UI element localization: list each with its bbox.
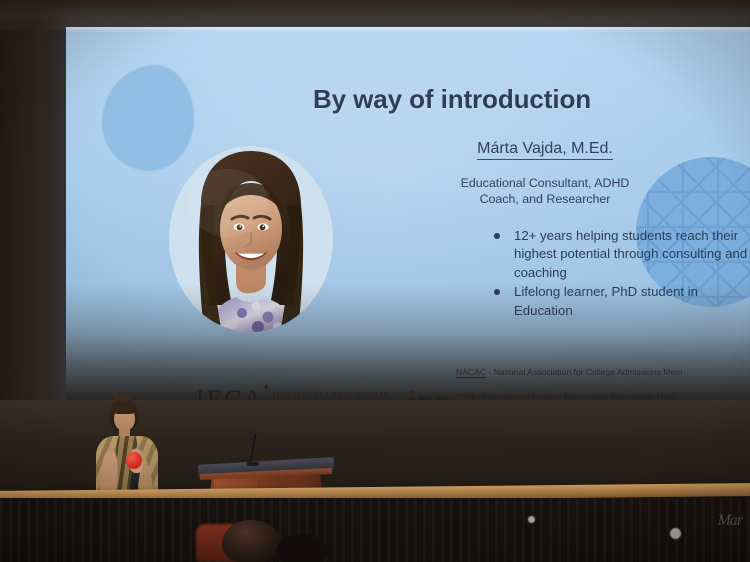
stage-skirt-logo: Mar xyxy=(717,512,742,530)
screen-vignette xyxy=(66,27,750,403)
skirt-fastener-dot xyxy=(528,516,535,523)
audience-head-silhouette xyxy=(276,534,328,562)
projection-screen: By way of introduction Márta Vajda, M.Ed… xyxy=(66,27,750,403)
speaker-hair-front xyxy=(111,402,137,414)
podium-microphone-base xyxy=(247,462,259,466)
microphone-head-icon xyxy=(126,452,142,469)
stage-black-skirt xyxy=(0,498,750,562)
wall-top-band xyxy=(0,0,750,29)
presentation-photo: By way of introduction Márta Vajda, M.Ed… xyxy=(0,0,750,562)
skirt-fastener-dot xyxy=(670,528,681,539)
